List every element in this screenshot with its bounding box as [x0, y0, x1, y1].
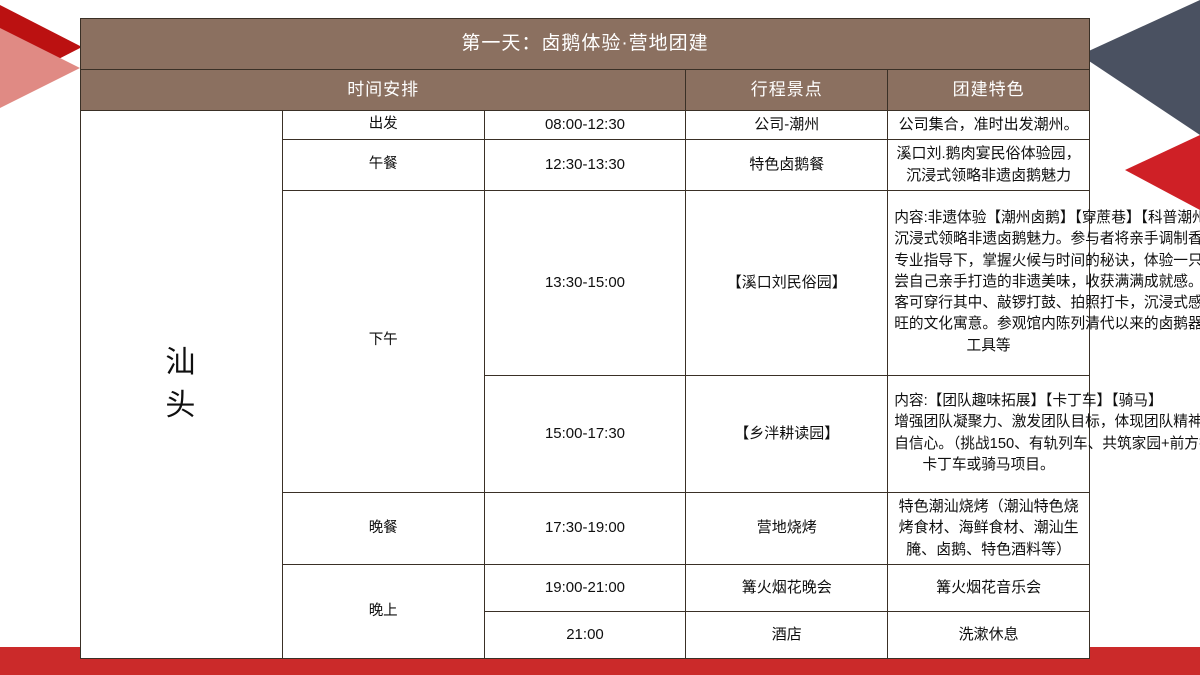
- desc-line: 沉浸式领略非遗卤鹅魅力。参与者将亲手调制香料卤汁，在非遗传承人(卤鹅师傅): [894, 229, 1083, 250]
- desc-line: 旺的文化寓意。参观馆内陈列清代以来的卤鹅器具、材料，及传统节庆器具、农耕: [894, 314, 1083, 335]
- period-label: 午餐: [282, 140, 484, 191]
- right-triangle-slate-icon: [1080, 0, 1200, 135]
- time-value: 15:00-17:30: [484, 375, 686, 492]
- spot-value: 篝火烟花晚会: [686, 564, 888, 611]
- feature-value: 公司集合，准时出发潮州。: [888, 111, 1090, 140]
- feature-value: 洗漱休息: [888, 611, 1090, 658]
- period-label: 晚上: [282, 564, 484, 658]
- desc-line: 自信心。（挑战150、有轨列车、共筑家园+前方打仗后方支援）。体验刺激草地: [894, 434, 1083, 455]
- time-value: 12:30-13:30: [484, 140, 686, 191]
- desc-line: 增强团队凝聚力、激发团队目标，体现团队精神激发学员内心的潜能，增强学员的: [894, 412, 1083, 433]
- page-title: 第一天：卤鹅体验·营地团建: [81, 19, 1090, 70]
- spot-value: 【乡泮耕读园】: [686, 375, 888, 492]
- time-value: 21:00: [484, 611, 686, 658]
- time-value: 19:00-21:00: [484, 564, 686, 611]
- spot-value: 【溪口刘民俗园】: [686, 190, 888, 375]
- desc-line: 专业指导下，掌握火候与时间的秘诀，体验一只完整的卤鹅的制作全过程，最终品: [894, 251, 1083, 272]
- feature-value: 特色潮汕烧烤（潮汕特色烧烤食材、海鲜食材、潮汕生腌、卤鹅、特色酒料等）: [888, 492, 1090, 564]
- time-value: 08:00-12:30: [484, 111, 686, 140]
- table-title-row: 第一天：卤鹅体验·营地团建: [81, 19, 1090, 70]
- feature-description: 内容:非遗体验【潮州卤鹅】【穿蔗巷】【科普潮州卤鹅器具及农耕用具】 沉浸式领略非…: [888, 190, 1090, 375]
- column-header-time: 时间安排: [81, 70, 686, 111]
- column-header-spot: 行程景点: [686, 70, 888, 111]
- spot-value: 公司-潮州: [686, 111, 888, 140]
- desc-line: 工具等: [894, 336, 1083, 357]
- left-arrow-pink-icon: [0, 28, 80, 108]
- desc-line: 客可穿行其中、敲锣打鼓、拍照打卡，沉浸式感受节节高升、甜甜蜜蜜、财丁兴: [894, 293, 1083, 314]
- feature-value: 篝火烟花音乐会: [888, 564, 1090, 611]
- itinerary-table: 第一天：卤鹅体验·营地团建 时间安排 行程景点 团建特色 汕 头 出发 08:0…: [80, 18, 1090, 659]
- table-row: 汕 头 出发 08:00-12:30 公司-潮州 公司集合，准时出发潮州。: [81, 111, 1090, 140]
- slide-canvas: 第一天：卤鹅体验·营地团建 时间安排 行程景点 团建特色 汕 头 出发 08:0…: [0, 0, 1200, 675]
- time-value: 17:30-19:00: [484, 492, 686, 564]
- city-char-2: 头: [87, 384, 276, 428]
- spot-value: 酒店: [686, 611, 888, 658]
- feature-value: 溪口刘.鹅肉宴民俗体验园，沉浸式领略非遗卤鹅魅力: [888, 140, 1090, 191]
- desc-line: 卡丁车或骑马项目。: [894, 455, 1083, 476]
- city-label: 汕 头: [81, 111, 283, 659]
- right-triangle-red-icon: [1125, 135, 1200, 210]
- left-arrow-red-icon: [0, 5, 82, 89]
- column-header-feature: 团建特色: [888, 70, 1090, 111]
- desc-line: 内容:非遗体验【潮州卤鹅】【穿蔗巷】【科普潮州卤鹅器具及农耕用具】: [894, 208, 1083, 229]
- spot-value: 特色卤鹅餐: [686, 140, 888, 191]
- desc-line: 内容:【团队趣味拓展】【卡丁车】【骑马】: [894, 391, 1083, 412]
- feature-description: 内容:【团队趣味拓展】【卡丁车】【骑马】 增强团队凝聚力、激发团队目标，体现团队…: [888, 375, 1090, 492]
- city-char-1: 汕: [87, 341, 276, 385]
- time-value: 13:30-15:00: [484, 190, 686, 375]
- period-label: 下午: [282, 190, 484, 492]
- table-header-row: 时间安排 行程景点 团建特色: [81, 70, 1090, 111]
- period-label: 晚餐: [282, 492, 484, 564]
- desc-line: 尝自己亲手打造的非遗美味，收获满满成就感。以甘蔗重现“穿蔗巷”场景，让游: [894, 272, 1083, 293]
- period-label: 出发: [282, 111, 484, 140]
- spot-value: 营地烧烤: [686, 492, 888, 564]
